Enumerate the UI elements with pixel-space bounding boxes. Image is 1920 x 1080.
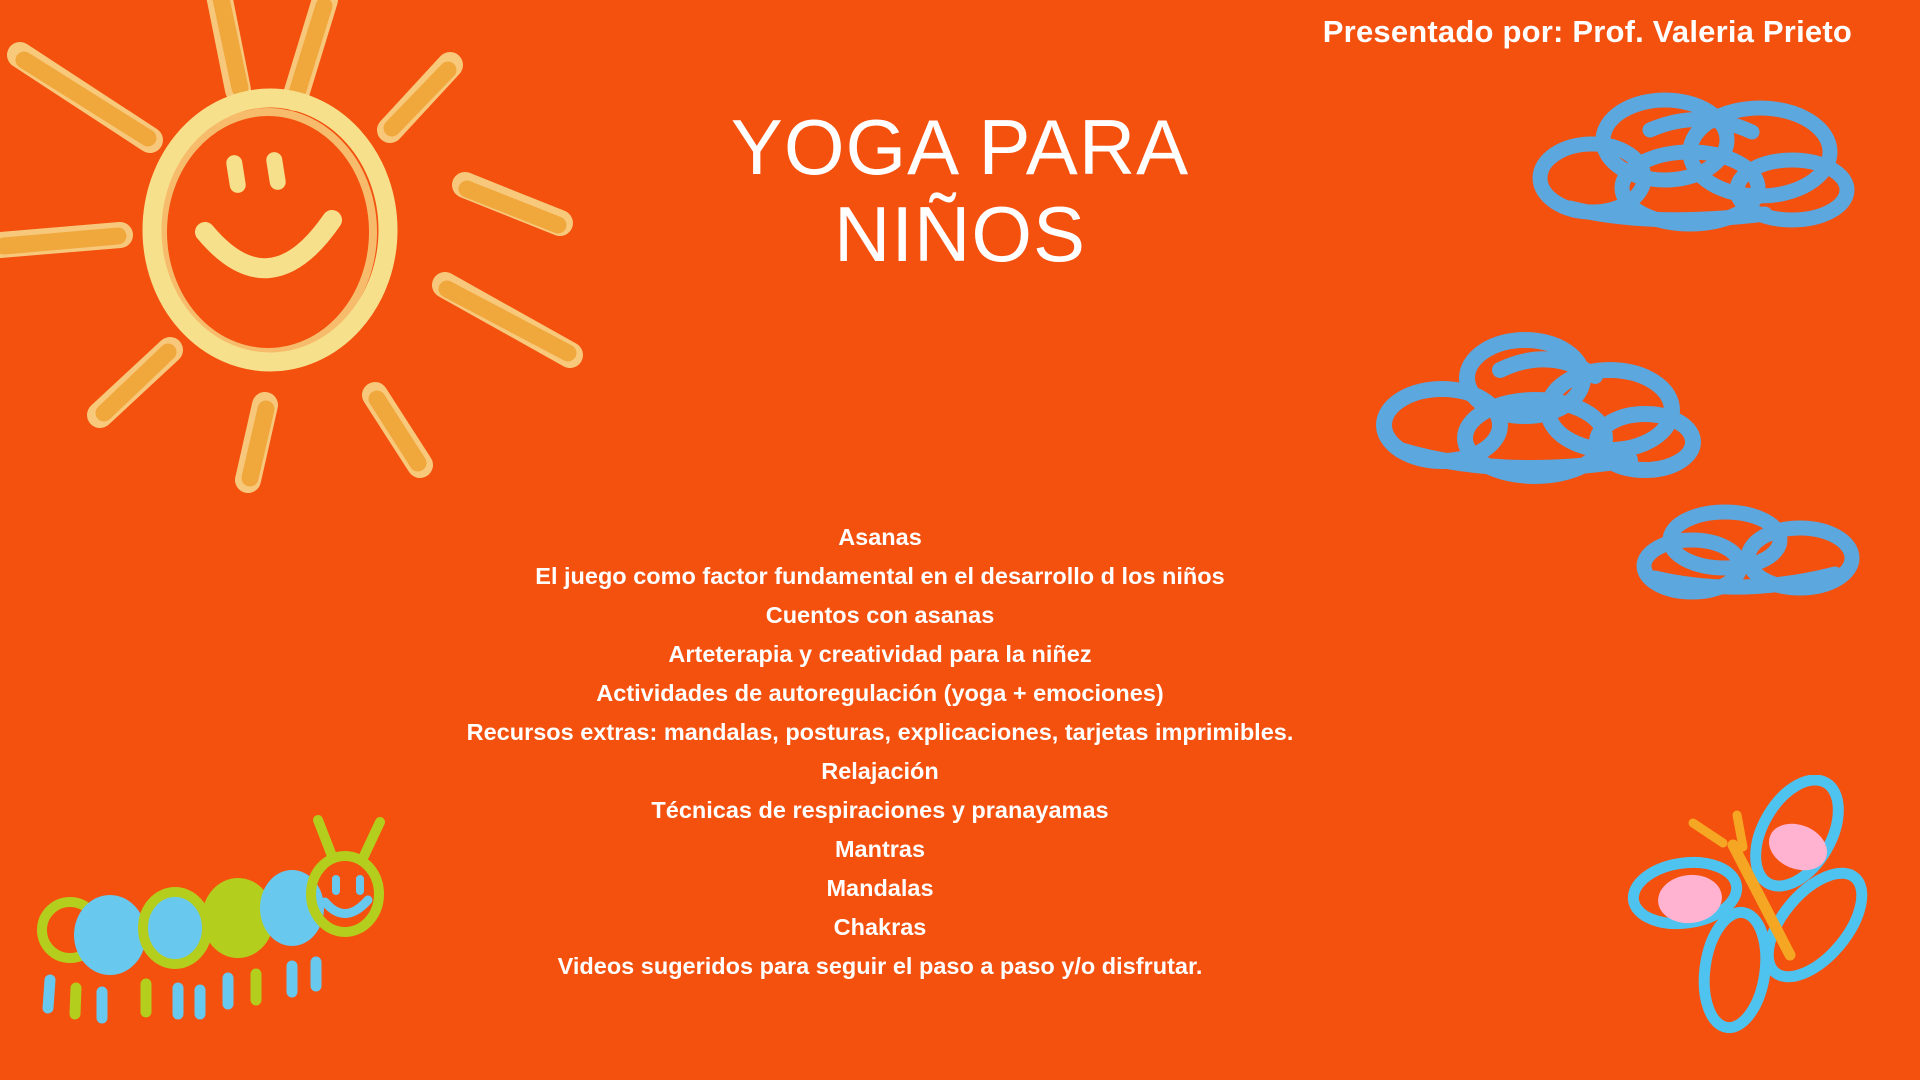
topic-line: Videos sugeridos para seguir el paso a p… <box>450 947 1310 986</box>
topic-line: Arteterapia y creatividad para la niñez <box>450 635 1310 674</box>
title-line-1: YOGA PARA <box>560 104 1360 191</box>
topic-line: Cuentos con asanas <box>450 596 1310 635</box>
topic-line: Técnicas de respiraciones y pranayamas <box>450 791 1310 830</box>
caterpillar-icon <box>20 800 420 1040</box>
cloud-icon <box>1360 330 1720 510</box>
presenter-credit: Presentado por: Prof. Valeria Prieto <box>1323 14 1852 50</box>
topic-line: Actividades de autoregulación (yoga + em… <box>450 674 1310 713</box>
topic-line: Recursos extras: mandalas, posturas, exp… <box>450 713 1310 752</box>
topic-line: Mandalas <box>450 869 1310 908</box>
cloud-icon <box>1530 90 1890 250</box>
topic-list: AsanasEl juego como factor fundamental e… <box>450 518 1310 986</box>
slide-canvas: Presentado por: Prof. Valeria Prieto YOG… <box>0 0 1920 1080</box>
topic-line: Relajación <box>450 752 1310 791</box>
title-line-2: NIÑOS <box>560 191 1360 278</box>
topic-line: Asanas <box>450 518 1310 557</box>
topic-line: El juego como factor fundamental en el d… <box>450 557 1310 596</box>
cloud-icon <box>1630 500 1870 610</box>
page-title: YOGA PARA NIÑOS <box>560 104 1360 279</box>
butterfly-icon <box>1625 775 1875 1035</box>
topic-line: Mantras <box>450 830 1310 869</box>
topic-line: Chakras <box>450 908 1310 947</box>
